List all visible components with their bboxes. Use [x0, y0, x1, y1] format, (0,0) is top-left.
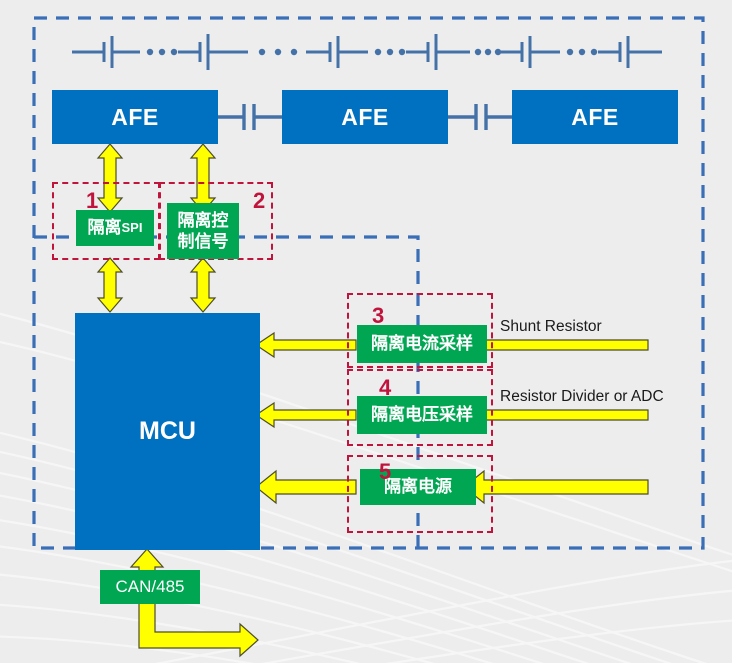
isolated-voltage-sense-block[interactable]: 隔离电压采样 — [357, 396, 487, 434]
isolated-spi-label-sub: SPI — [122, 218, 143, 238]
afe-block-2[interactable]: AFE — [282, 90, 448, 144]
region-number-3: 3 — [372, 305, 384, 327]
region-number-5: 5 — [379, 461, 391, 483]
afe-block-1[interactable]: AFE — [52, 90, 218, 144]
resistor-divider-label: Resistor Divider or ADC — [500, 388, 664, 406]
isolated-power-supply-block[interactable]: 隔离电源 — [360, 469, 476, 505]
afe-block-3[interactable]: AFE — [512, 90, 678, 144]
region-number-2: 2 — [253, 190, 265, 212]
region-number-4: 4 — [379, 377, 391, 399]
region-number-1: 1 — [86, 190, 98, 212]
isolated-current-sense-block[interactable]: 隔离电流采样 — [357, 325, 487, 363]
isolated-spi-label-main: 隔离 — [88, 218, 122, 238]
isolated-control-line-1: 隔离控 — [178, 210, 229, 231]
isolated-control-signal-block[interactable]: 隔离控 制信号 — [167, 203, 239, 259]
isolated-spi-block[interactable]: 隔离SPI — [76, 210, 154, 246]
can-485-block[interactable]: CAN/485 — [100, 570, 200, 604]
shunt-resistor-label: Shunt Resistor — [500, 318, 602, 336]
diagram-canvas: AFE AFE AFE MCU 隔离SPI 隔离控 制信号 隔离电流采样 隔离电… — [0, 0, 732, 663]
mcu-block[interactable]: MCU — [75, 313, 260, 550]
isolated-control-line-2: 制信号 — [178, 231, 229, 252]
